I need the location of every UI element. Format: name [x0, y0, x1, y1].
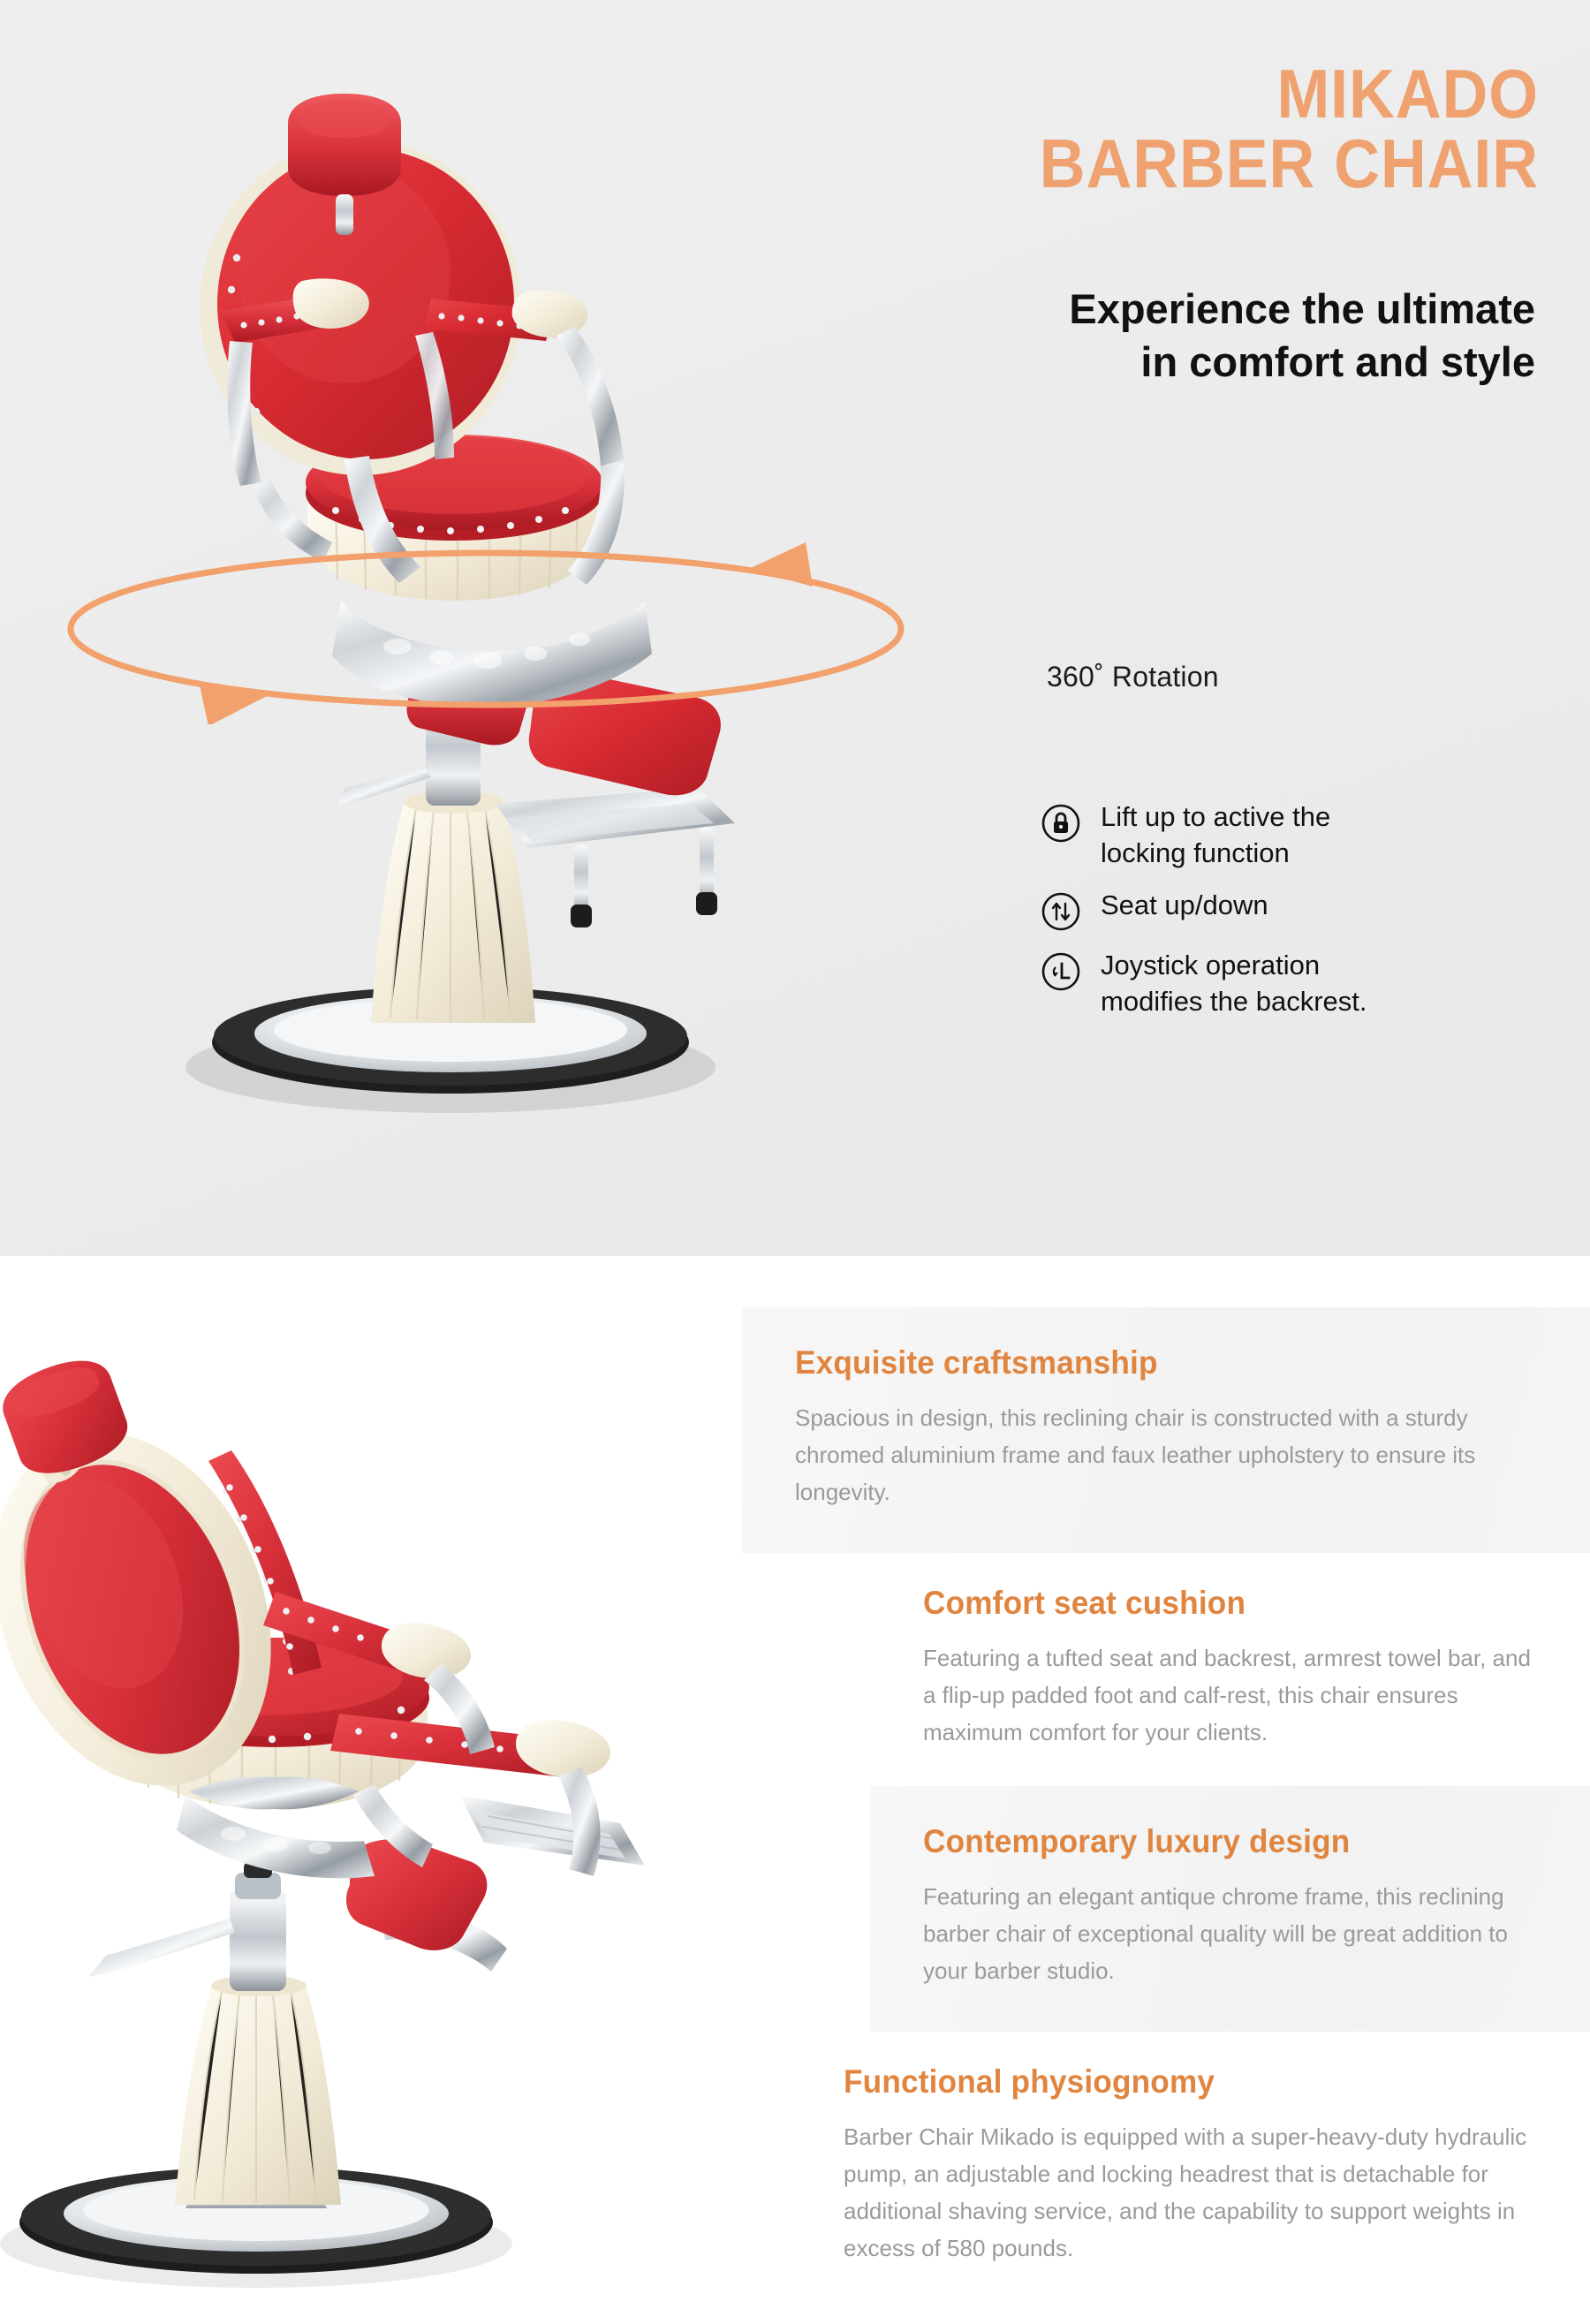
feature-panel-seat-cushion: Comfort seat cushion Featuring a tufted …	[870, 1548, 1590, 1793]
panel-title-seat-cushion: Comfort seat cushion	[923, 1585, 1506, 1622]
hero-subtitle: Experience the ultimate in comfort and s…	[864, 283, 1535, 389]
panel-body-seat-cushion: Featuring a tufted seat and backrest, ar…	[923, 1639, 1537, 1751]
rotation-label: 360˚ Rotation	[1047, 661, 1219, 693]
feature-item-seat-height: Seat up/down	[1041, 888, 1562, 932]
feature-locking-line1: Lift up to active the	[1101, 801, 1330, 832]
hero-title-block: MIKADO BARBER CHAIR	[726, 62, 1539, 197]
feature-locking-line2: locking function	[1101, 837, 1290, 868]
feature-text-joystick: Joystick operation modifies the backrest…	[1101, 948, 1367, 1020]
feature-item-locking: Lift up to active the locking function	[1041, 799, 1562, 872]
joystick-icon	[1041, 951, 1081, 992]
panel-body-physiognomy: Barber Chair Mikado is equipped with a s…	[844, 2118, 1537, 2267]
lock-icon	[1041, 803, 1081, 844]
feature-joystick-line1: Joystick operation	[1101, 950, 1320, 980]
product-name-line1: MIKADO	[791, 62, 1539, 126]
barber-chair-hero-image	[79, 71, 857, 1166]
up-down-arrows-icon	[1041, 891, 1081, 932]
panel-title-luxury-design: Contemporary luxury design	[923, 1823, 1506, 1860]
hero-section: MIKADO BARBER CHAIR Experience the ultim…	[0, 0, 1590, 1256]
product-name-line2: BARBER CHAIR	[791, 132, 1539, 196]
hero-subtitle-line1: Experience the ultimate	[864, 283, 1535, 336]
feature-panel-physiognomy: Functional physiognomy Barber Chair Mika…	[791, 2026, 1590, 2309]
feature-panel-luxury-design: Contemporary luxury design Featuring an …	[870, 1786, 1590, 2032]
features-section: Exquisite craftsmanship Spacious in desi…	[0, 1256, 1590, 2324]
feature-text-locking: Lift up to active the locking function	[1101, 799, 1330, 872]
feature-joystick-line2: modifies the backrest.	[1101, 986, 1367, 1017]
panel-title-craftsmanship: Exquisite craftsmanship	[795, 1344, 1500, 1382]
panel-title-physiognomy: Functional physiognomy	[844, 2063, 1503, 2101]
hero-feature-list: Lift up to active the locking function S…	[1041, 799, 1562, 1020]
panel-body-craftsmanship: Spacious in design, this reclining chair…	[795, 1399, 1537, 1510]
feature-panel-craftsmanship: Exquisite craftsmanship Spacious in desi…	[742, 1307, 1590, 1553]
panel-body-luxury-design: Featuring an elegant antique chrome fram…	[923, 1878, 1537, 1989]
barber-chair-detail-image	[0, 1300, 707, 2324]
product-infographic-page: MIKADO BARBER CHAIR Experience the ultim…	[0, 0, 1590, 2324]
feature-item-joystick: Joystick operation modifies the backrest…	[1041, 948, 1562, 1020]
feature-text-seat-height: Seat up/down	[1101, 888, 1268, 924]
hero-subtitle-line2: in comfort and style	[864, 336, 1535, 389]
